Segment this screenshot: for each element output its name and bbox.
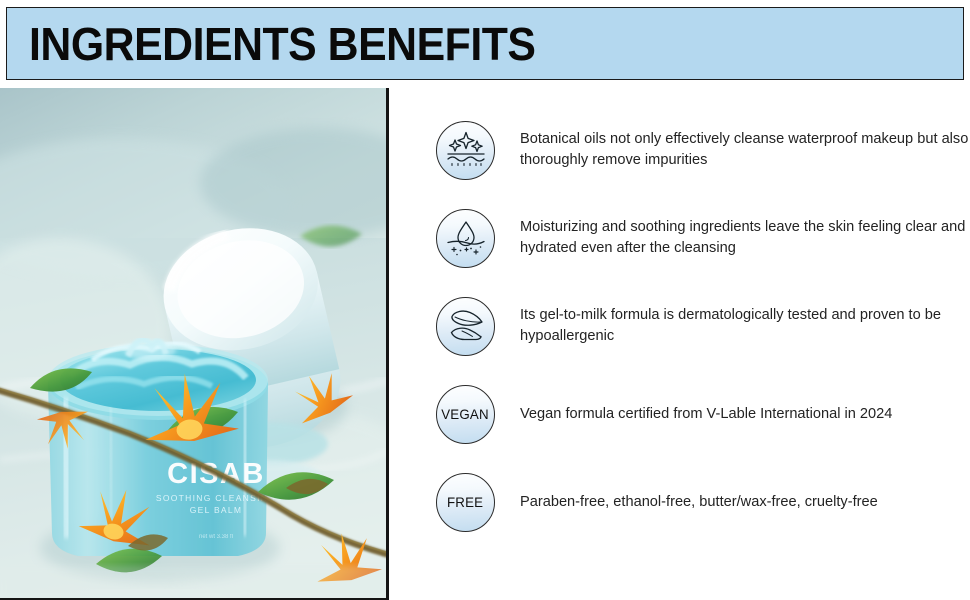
benefit-text: Vegan formula certified from V-Lable Int…	[520, 404, 892, 425]
benefit-text: Its gel-to-milk formula is dermatologica…	[520, 305, 970, 347]
svg-text:net wt 3.38 fl: net wt 3.38 fl	[199, 534, 233, 540]
vegan-badge-icon: VEGAN	[436, 385, 495, 444]
sparkles-over-skin-wave-icon	[436, 121, 495, 180]
benefit-text: Botanical oils not only effectively clea…	[520, 129, 970, 171]
svg-text:GEL BALM: GEL BALM	[190, 505, 243, 515]
leaf-in-hand-icon	[436, 297, 495, 356]
benefit-item: VEGAN Vegan formula certified from V-Lab…	[389, 370, 970, 458]
benefit-item: Its gel-to-milk formula is dermatologica…	[389, 282, 970, 370]
vegan-badge-label: VEGAN	[442, 406, 490, 422]
benefit-icon-2	[436, 209, 495, 268]
free-badge-label: FREE	[447, 494, 483, 510]
benefit-text: Paraben-free, ethanol-free, butter/wax-f…	[520, 492, 878, 513]
benefit-text: Moisturizing and soothing ingredients le…	[520, 217, 970, 259]
content-area: CISAB SOOTHING CLEANSING GEL BALM net wt…	[0, 88, 970, 600]
free-badge-icon: FREE	[436, 473, 495, 532]
benefit-icon-1	[436, 121, 495, 180]
benefits-list: Botanical oils not only effectively clea…	[389, 88, 970, 600]
benefit-item: FREE Paraben-free, ethanol-free, butter/…	[389, 458, 970, 546]
benefit-icon-3	[436, 297, 495, 356]
ingredients-benefits-infographic: INGREDIENTS BENEFITS	[0, 0, 970, 600]
benefit-item: Botanical oils not only effectively clea…	[389, 106, 970, 194]
benefit-item: Moisturizing and soothing ingredients le…	[389, 194, 970, 282]
header-banner: INGREDIENTS BENEFITS	[6, 7, 964, 80]
page-title: INGREDIENTS BENEFITS	[29, 21, 535, 67]
product-photo: CISAB SOOTHING CLEANSING GEL BALM net wt…	[0, 88, 389, 600]
water-droplet-hydration-icon	[436, 209, 495, 268]
benefit-icon-4: VEGAN	[436, 385, 495, 444]
benefit-icon-5: FREE	[436, 473, 495, 532]
product-photo-illustration: CISAB SOOTHING CLEANSING GEL BALM net wt…	[0, 88, 389, 600]
